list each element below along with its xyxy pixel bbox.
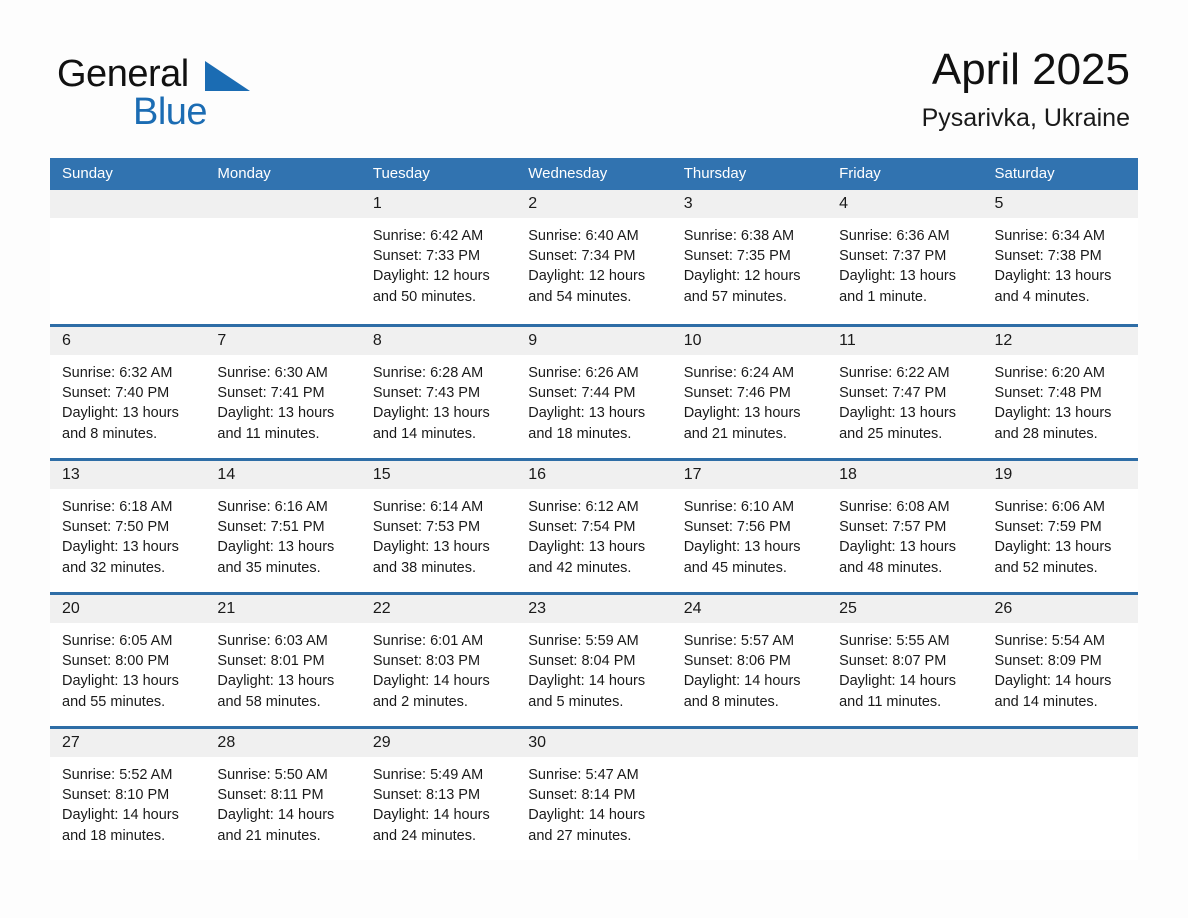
day-number-band: 7 xyxy=(205,327,360,355)
day-number-band: 1 xyxy=(361,190,516,218)
daylight-text-line1: Daylight: 13 hours xyxy=(995,266,1126,286)
sunrise-text: Sunrise: 6:36 AM xyxy=(839,226,970,246)
day-cell-27[interactable]: 27Sunrise: 5:52 AMSunset: 8:10 PMDayligh… xyxy=(50,729,205,860)
day-details: Sunrise: 6:18 AMSunset: 7:50 PMDaylight:… xyxy=(50,489,205,578)
sunrise-text: Sunrise: 6:38 AM xyxy=(684,226,815,246)
sunrise-text: Sunrise: 6:34 AM xyxy=(995,226,1126,246)
location-subtitle: Pysarivka, Ukraine xyxy=(922,102,1130,134)
daylight-text-line1: Daylight: 13 hours xyxy=(995,537,1126,557)
day-number-band: 19 xyxy=(983,461,1138,489)
day-number-band xyxy=(983,729,1138,757)
daylight-text-line2: and 57 minutes. xyxy=(684,287,815,307)
daylight-text-line2: and 18 minutes. xyxy=(528,424,659,444)
day-details: Sunrise: 6:10 AMSunset: 7:56 PMDaylight:… xyxy=(672,489,827,578)
day-cell-22[interactable]: 22Sunrise: 6:01 AMSunset: 8:03 PMDayligh… xyxy=(361,595,516,726)
daylight-text-line2: and 55 minutes. xyxy=(62,692,193,712)
day-cell-3[interactable]: 3Sunrise: 6:38 AMSunset: 7:35 PMDaylight… xyxy=(672,190,827,324)
daylight-text-line1: Daylight: 13 hours xyxy=(62,671,193,691)
day-number: 2 xyxy=(516,190,671,218)
sunset-text: Sunset: 7:59 PM xyxy=(995,517,1126,537)
day-number-band: 22 xyxy=(361,595,516,623)
day-number: 27 xyxy=(50,729,205,757)
day-details: Sunrise: 6:12 AMSunset: 7:54 PMDaylight:… xyxy=(516,489,671,578)
sunrise-text: Sunrise: 6:40 AM xyxy=(528,226,659,246)
sunrise-text: Sunrise: 5:55 AM xyxy=(839,631,970,651)
day-number: 22 xyxy=(361,595,516,623)
day-number: 14 xyxy=(205,461,360,489)
sunrise-text: Sunrise: 5:49 AM xyxy=(373,765,504,785)
sunset-text: Sunset: 7:40 PM xyxy=(62,383,193,403)
sunset-text: Sunset: 7:56 PM xyxy=(684,517,815,537)
day-number: 20 xyxy=(50,595,205,623)
calendar-table: SundayMondayTuesdayWednesdayThursdayFrid… xyxy=(50,158,1138,860)
day-details: Sunrise: 6:08 AMSunset: 7:57 PMDaylight:… xyxy=(827,489,982,578)
day-number: 19 xyxy=(983,461,1138,489)
day-number: 3 xyxy=(672,190,827,218)
day-number: 4 xyxy=(827,190,982,218)
sunset-text: Sunset: 7:33 PM xyxy=(373,246,504,266)
day-cell-2[interactable]: 2Sunrise: 6:40 AMSunset: 7:34 PMDaylight… xyxy=(516,190,671,324)
sunrise-text: Sunrise: 6:05 AM xyxy=(62,631,193,651)
daylight-text-line1: Daylight: 13 hours xyxy=(528,537,659,557)
day-number-band: 15 xyxy=(361,461,516,489)
day-number-band xyxy=(205,190,360,218)
daylight-text-line2: and 27 minutes. xyxy=(528,826,659,846)
day-number-band: 4 xyxy=(827,190,982,218)
day-details: Sunrise: 6:16 AMSunset: 7:51 PMDaylight:… xyxy=(205,489,360,578)
day-number: 10 xyxy=(672,327,827,355)
daylight-text-line1: Daylight: 12 hours xyxy=(528,266,659,286)
day-details: Sunrise: 6:32 AMSunset: 7:40 PMDaylight:… xyxy=(50,355,205,444)
sunrise-text: Sunrise: 6:20 AM xyxy=(995,363,1126,383)
daylight-text-line2: and 18 minutes. xyxy=(62,826,193,846)
sunrise-text: Sunrise: 5:54 AM xyxy=(995,631,1126,651)
day-cell-15[interactable]: 15Sunrise: 6:14 AMSunset: 7:53 PMDayligh… xyxy=(361,461,516,592)
daylight-text-line2: and 11 minutes. xyxy=(839,692,970,712)
day-number-band xyxy=(672,729,827,757)
day-number: 9 xyxy=(516,327,671,355)
daylight-text-line1: Daylight: 12 hours xyxy=(684,266,815,286)
daylight-text-line1: Daylight: 14 hours xyxy=(217,805,348,825)
week-row: 13Sunrise: 6:18 AMSunset: 7:50 PMDayligh… xyxy=(50,458,1138,592)
day-cell-5[interactable]: 5Sunrise: 6:34 AMSunset: 7:38 PMDaylight… xyxy=(983,190,1138,324)
daylight-text-line2: and 54 minutes. xyxy=(528,287,659,307)
day-number-band: 17 xyxy=(672,461,827,489)
day-details: Sunrise: 6:06 AMSunset: 7:59 PMDaylight:… xyxy=(983,489,1138,578)
day-cell-30[interactable]: 30Sunrise: 5:47 AMSunset: 8:14 PMDayligh… xyxy=(516,729,671,860)
daylight-text-line2: and 24 minutes. xyxy=(373,826,504,846)
day-number-band: 6 xyxy=(50,327,205,355)
daylight-text-line2: and 8 minutes. xyxy=(62,424,193,444)
weekday-header-wednesday: Wednesday xyxy=(516,158,671,190)
daylight-text-line1: Daylight: 13 hours xyxy=(684,403,815,423)
sunset-text: Sunset: 7:38 PM xyxy=(995,246,1126,266)
sunset-text: Sunset: 8:10 PM xyxy=(62,785,193,805)
day-cell-26[interactable]: 26Sunrise: 5:54 AMSunset: 8:09 PMDayligh… xyxy=(983,595,1138,726)
day-cell-28[interactable]: 28Sunrise: 5:50 AMSunset: 8:11 PMDayligh… xyxy=(205,729,360,860)
daylight-text-line2: and 14 minutes. xyxy=(373,424,504,444)
day-number-band: 16 xyxy=(516,461,671,489)
day-cell-16[interactable]: 16Sunrise: 6:12 AMSunset: 7:54 PMDayligh… xyxy=(516,461,671,592)
general-blue-logo[interactable]: General Blue xyxy=(57,52,327,132)
day-details: Sunrise: 6:20 AMSunset: 7:48 PMDaylight:… xyxy=(983,355,1138,444)
daylight-text-line1: Daylight: 13 hours xyxy=(528,403,659,423)
daylight-text-line2: and 45 minutes. xyxy=(684,558,815,578)
day-cell-10[interactable]: 10Sunrise: 6:24 AMSunset: 7:46 PMDayligh… xyxy=(672,327,827,458)
sunrise-text: Sunrise: 6:28 AM xyxy=(373,363,504,383)
daylight-text-line2: and 1 minute. xyxy=(839,287,970,307)
day-details: Sunrise: 6:38 AMSunset: 7:35 PMDaylight:… xyxy=(672,218,827,307)
day-details: Sunrise: 6:42 AMSunset: 7:33 PMDaylight:… xyxy=(361,218,516,307)
daylight-text-line1: Daylight: 14 hours xyxy=(995,671,1126,691)
day-cell-24[interactable]: 24Sunrise: 5:57 AMSunset: 8:06 PMDayligh… xyxy=(672,595,827,726)
sunrise-text: Sunrise: 6:22 AM xyxy=(839,363,970,383)
sunset-text: Sunset: 8:11 PM xyxy=(217,785,348,805)
sunrise-text: Sunrise: 5:57 AM xyxy=(684,631,815,651)
page-title: April 2025 xyxy=(922,44,1130,96)
day-details: Sunrise: 6:30 AMSunset: 7:41 PMDaylight:… xyxy=(205,355,360,444)
day-details: Sunrise: 6:24 AMSunset: 7:46 PMDaylight:… xyxy=(672,355,827,444)
daylight-text-line1: Daylight: 13 hours xyxy=(373,403,504,423)
sunset-text: Sunset: 8:03 PM xyxy=(373,651,504,671)
sunrise-text: Sunrise: 6:26 AM xyxy=(528,363,659,383)
sunset-text: Sunset: 8:13 PM xyxy=(373,785,504,805)
daylight-text-line2: and 58 minutes. xyxy=(217,692,348,712)
day-details: Sunrise: 6:34 AMSunset: 7:38 PMDaylight:… xyxy=(983,218,1138,307)
day-cell-12[interactable]: 12Sunrise: 6:20 AMSunset: 7:48 PMDayligh… xyxy=(983,327,1138,458)
daylight-text-line1: Daylight: 13 hours xyxy=(62,403,193,423)
weekday-header-sunday: Sunday xyxy=(50,158,205,190)
daylight-text-line1: Daylight: 13 hours xyxy=(217,537,348,557)
day-cell-14[interactable]: 14Sunrise: 6:16 AMSunset: 7:51 PMDayligh… xyxy=(205,461,360,592)
day-number-band: 27 xyxy=(50,729,205,757)
daylight-text-line1: Daylight: 14 hours xyxy=(373,671,504,691)
day-number-band: 13 xyxy=(50,461,205,489)
day-number-band: 18 xyxy=(827,461,982,489)
triangle-icon xyxy=(205,61,250,91)
day-cell-4[interactable]: 4Sunrise: 6:36 AMSunset: 7:37 PMDaylight… xyxy=(827,190,982,324)
daylight-text-line2: and 2 minutes. xyxy=(373,692,504,712)
sunset-text: Sunset: 8:06 PM xyxy=(684,651,815,671)
day-cell-empty xyxy=(983,729,1138,860)
day-number: 28 xyxy=(205,729,360,757)
page-header: General Blue April 2025 Pysarivka, Ukrai… xyxy=(0,0,1188,150)
day-number: 7 xyxy=(205,327,360,355)
sunset-text: Sunset: 7:48 PM xyxy=(995,383,1126,403)
sunset-text: Sunset: 7:50 PM xyxy=(62,517,193,537)
daylight-text-line1: Daylight: 14 hours xyxy=(373,805,504,825)
sunrise-text: Sunrise: 5:52 AM xyxy=(62,765,193,785)
sunset-text: Sunset: 8:09 PM xyxy=(995,651,1126,671)
week-row: 27Sunrise: 5:52 AMSunset: 8:10 PMDayligh… xyxy=(50,726,1138,860)
sunset-text: Sunset: 7:47 PM xyxy=(839,383,970,403)
day-number-band: 29 xyxy=(361,729,516,757)
day-cell-20[interactable]: 20Sunrise: 6:05 AMSunset: 8:00 PMDayligh… xyxy=(50,595,205,726)
day-cell-empty xyxy=(205,190,360,324)
daylight-text-line1: Daylight: 13 hours xyxy=(373,537,504,557)
day-number-band: 26 xyxy=(983,595,1138,623)
day-number: 26 xyxy=(983,595,1138,623)
daylight-text-line2: and 5 minutes. xyxy=(528,692,659,712)
day-number: 8 xyxy=(361,327,516,355)
daylight-text-line1: Daylight: 13 hours xyxy=(839,403,970,423)
week-row: 20Sunrise: 6:05 AMSunset: 8:00 PMDayligh… xyxy=(50,592,1138,726)
sunset-text: Sunset: 7:44 PM xyxy=(528,383,659,403)
daylight-text-line1: Daylight: 13 hours xyxy=(62,537,193,557)
day-cell-1[interactable]: 1Sunrise: 6:42 AMSunset: 7:33 PMDaylight… xyxy=(361,190,516,324)
weekday-header-thursday: Thursday xyxy=(672,158,827,190)
day-details: Sunrise: 6:28 AMSunset: 7:43 PMDaylight:… xyxy=(361,355,516,444)
day-number: 1 xyxy=(361,190,516,218)
sunset-text: Sunset: 7:34 PM xyxy=(528,246,659,266)
day-details: Sunrise: 6:05 AMSunset: 8:00 PMDaylight:… xyxy=(50,623,205,712)
daylight-text-line1: Daylight: 13 hours xyxy=(995,403,1126,423)
daylight-text-line1: Daylight: 13 hours xyxy=(839,537,970,557)
daylight-text-line1: Daylight: 14 hours xyxy=(839,671,970,691)
sunset-text: Sunset: 8:07 PM xyxy=(839,651,970,671)
daylight-text-line1: Daylight: 13 hours xyxy=(217,403,348,423)
day-number: 21 xyxy=(205,595,360,623)
sunrise-text: Sunrise: 6:16 AM xyxy=(217,497,348,517)
day-cell-11[interactable]: 11Sunrise: 6:22 AMSunset: 7:47 PMDayligh… xyxy=(827,327,982,458)
day-cell-empty xyxy=(672,729,827,860)
day-number: 13 xyxy=(50,461,205,489)
day-number: 17 xyxy=(672,461,827,489)
day-number: 5 xyxy=(983,190,1138,218)
daylight-text-line2: and 48 minutes. xyxy=(839,558,970,578)
sunrise-text: Sunrise: 6:42 AM xyxy=(373,226,504,246)
day-cell-13[interactable]: 13Sunrise: 6:18 AMSunset: 7:50 PMDayligh… xyxy=(50,461,205,592)
day-number: 29 xyxy=(361,729,516,757)
day-details: Sunrise: 5:52 AMSunset: 8:10 PMDaylight:… xyxy=(50,757,205,846)
daylight-text-line2: and 25 minutes. xyxy=(839,424,970,444)
daylight-text-line2: and 42 minutes. xyxy=(528,558,659,578)
sunset-text: Sunset: 7:35 PM xyxy=(684,246,815,266)
daylight-text-line1: Daylight: 13 hours xyxy=(684,537,815,557)
day-number-band: 20 xyxy=(50,595,205,623)
day-cell-18[interactable]: 18Sunrise: 6:08 AMSunset: 7:57 PMDayligh… xyxy=(827,461,982,592)
daylight-text-line2: and 38 minutes. xyxy=(373,558,504,578)
day-details: Sunrise: 5:55 AMSunset: 8:07 PMDaylight:… xyxy=(827,623,982,712)
sunrise-text: Sunrise: 6:03 AM xyxy=(217,631,348,651)
daylight-text-line1: Daylight: 14 hours xyxy=(528,805,659,825)
title-block: April 2025 Pysarivka, Ukraine xyxy=(922,44,1130,134)
sunrise-text: Sunrise: 6:12 AM xyxy=(528,497,659,517)
sunset-text: Sunset: 7:46 PM xyxy=(684,383,815,403)
day-number-band xyxy=(827,729,982,757)
day-cell-6[interactable]: 6Sunrise: 6:32 AMSunset: 7:40 PMDaylight… xyxy=(50,327,205,458)
day-number: 16 xyxy=(516,461,671,489)
sunrise-text: Sunrise: 6:01 AM xyxy=(373,631,504,651)
daylight-text-line2: and 35 minutes. xyxy=(217,558,348,578)
day-number: 25 xyxy=(827,595,982,623)
day-number-band: 10 xyxy=(672,327,827,355)
sunset-text: Sunset: 7:51 PM xyxy=(217,517,348,537)
day-details: Sunrise: 5:59 AMSunset: 8:04 PMDaylight:… xyxy=(516,623,671,712)
weekday-header-monday: Monday xyxy=(205,158,360,190)
day-details: Sunrise: 6:26 AMSunset: 7:44 PMDaylight:… xyxy=(516,355,671,444)
day-number-band: 2 xyxy=(516,190,671,218)
day-cell-19[interactable]: 19Sunrise: 6:06 AMSunset: 7:59 PMDayligh… xyxy=(983,461,1138,592)
day-number: 23 xyxy=(516,595,671,623)
day-cell-25[interactable]: 25Sunrise: 5:55 AMSunset: 8:07 PMDayligh… xyxy=(827,595,982,726)
sunset-text: Sunset: 7:57 PM xyxy=(839,517,970,537)
sunset-text: Sunset: 7:37 PM xyxy=(839,246,970,266)
sunrise-text: Sunrise: 6:30 AM xyxy=(217,363,348,383)
day-number-band: 21 xyxy=(205,595,360,623)
day-number-band: 25 xyxy=(827,595,982,623)
sunrise-text: Sunrise: 5:59 AM xyxy=(528,631,659,651)
sunset-text: Sunset: 7:41 PM xyxy=(217,383,348,403)
day-number-band: 8 xyxy=(361,327,516,355)
day-details: Sunrise: 5:57 AMSunset: 8:06 PMDaylight:… xyxy=(672,623,827,712)
day-details: Sunrise: 6:14 AMSunset: 7:53 PMDaylight:… xyxy=(361,489,516,578)
daylight-text-line1: Daylight: 13 hours xyxy=(839,266,970,286)
day-number: 6 xyxy=(50,327,205,355)
daylight-text-line2: and 4 minutes. xyxy=(995,287,1126,307)
daylight-text-line1: Daylight: 13 hours xyxy=(217,671,348,691)
day-details: Sunrise: 5:47 AMSunset: 8:14 PMDaylight:… xyxy=(516,757,671,846)
day-details: Sunrise: 6:22 AMSunset: 7:47 PMDaylight:… xyxy=(827,355,982,444)
day-number: 18 xyxy=(827,461,982,489)
daylight-text-line1: Daylight: 12 hours xyxy=(373,266,504,286)
day-cell-23[interactable]: 23Sunrise: 5:59 AMSunset: 8:04 PMDayligh… xyxy=(516,595,671,726)
sunset-text: Sunset: 8:01 PM xyxy=(217,651,348,671)
day-number: 15 xyxy=(361,461,516,489)
sunrise-text: Sunrise: 6:14 AM xyxy=(373,497,504,517)
day-cell-7[interactable]: 7Sunrise: 6:30 AMSunset: 7:41 PMDaylight… xyxy=(205,327,360,458)
daylight-text-line2: and 21 minutes. xyxy=(217,826,348,846)
daylight-text-line1: Daylight: 14 hours xyxy=(528,671,659,691)
day-number: 24 xyxy=(672,595,827,623)
day-cell-empty xyxy=(827,729,982,860)
sunset-text: Sunset: 8:00 PM xyxy=(62,651,193,671)
sunset-text: Sunset: 8:14 PM xyxy=(528,785,659,805)
day-number-band: 12 xyxy=(983,327,1138,355)
day-number-band: 23 xyxy=(516,595,671,623)
sunrise-text: Sunrise: 5:47 AM xyxy=(528,765,659,785)
daylight-text-line2: and 52 minutes. xyxy=(995,558,1126,578)
daylight-text-line2: and 8 minutes. xyxy=(684,692,815,712)
calendar-body: 1Sunrise: 6:42 AMSunset: 7:33 PMDaylight… xyxy=(50,190,1138,860)
daylight-text-line2: and 32 minutes. xyxy=(62,558,193,578)
weekday-header-saturday: Saturday xyxy=(983,158,1138,190)
sunset-text: Sunset: 7:43 PM xyxy=(373,383,504,403)
daylight-text-line2: and 28 minutes. xyxy=(995,424,1126,444)
day-details: Sunrise: 5:50 AMSunset: 8:11 PMDaylight:… xyxy=(205,757,360,846)
sunrise-text: Sunrise: 6:06 AM xyxy=(995,497,1126,517)
day-details: Sunrise: 6:03 AMSunset: 8:01 PMDaylight:… xyxy=(205,623,360,712)
weekday-header-tuesday: Tuesday xyxy=(361,158,516,190)
day-number: 11 xyxy=(827,327,982,355)
sunset-text: Sunset: 7:54 PM xyxy=(528,517,659,537)
weekday-header-friday: Friday xyxy=(827,158,982,190)
day-number-band: 5 xyxy=(983,190,1138,218)
day-details: Sunrise: 6:36 AMSunset: 7:37 PMDaylight:… xyxy=(827,218,982,307)
day-number: 12 xyxy=(983,327,1138,355)
day-cell-9[interactable]: 9Sunrise: 6:26 AMSunset: 7:44 PMDaylight… xyxy=(516,327,671,458)
sunrise-text: Sunrise: 6:18 AM xyxy=(62,497,193,517)
sunrise-text: Sunrise: 6:24 AM xyxy=(684,363,815,383)
daylight-text-line1: Daylight: 14 hours xyxy=(62,805,193,825)
weekday-header-row: SundayMondayTuesdayWednesdayThursdayFrid… xyxy=(50,158,1138,190)
sunrise-text: Sunrise: 5:50 AM xyxy=(217,765,348,785)
sunset-text: Sunset: 7:53 PM xyxy=(373,517,504,537)
logo-text-blue: Blue xyxy=(133,90,207,134)
day-cell-8[interactable]: 8Sunrise: 6:28 AMSunset: 7:43 PMDaylight… xyxy=(361,327,516,458)
daylight-text-line2: and 14 minutes. xyxy=(995,692,1126,712)
sunrise-text: Sunrise: 6:10 AM xyxy=(684,497,815,517)
day-number: 30 xyxy=(516,729,671,757)
sunset-text: Sunset: 8:04 PM xyxy=(528,651,659,671)
day-cell-empty xyxy=(50,190,205,324)
day-details: Sunrise: 6:40 AMSunset: 7:34 PMDaylight:… xyxy=(516,218,671,307)
day-cell-21[interactable]: 21Sunrise: 6:03 AMSunset: 8:01 PMDayligh… xyxy=(205,595,360,726)
day-cell-29[interactable]: 29Sunrise: 5:49 AMSunset: 8:13 PMDayligh… xyxy=(361,729,516,860)
day-number-band: 14 xyxy=(205,461,360,489)
day-number-band: 3 xyxy=(672,190,827,218)
daylight-text-line1: Daylight: 14 hours xyxy=(684,671,815,691)
daylight-text-line2: and 50 minutes. xyxy=(373,287,504,307)
day-details: Sunrise: 6:01 AMSunset: 8:03 PMDaylight:… xyxy=(361,623,516,712)
sunrise-text: Sunrise: 6:08 AM xyxy=(839,497,970,517)
sunrise-text: Sunrise: 6:32 AM xyxy=(62,363,193,383)
day-cell-17[interactable]: 17Sunrise: 6:10 AMSunset: 7:56 PMDayligh… xyxy=(672,461,827,592)
daylight-text-line2: and 11 minutes. xyxy=(217,424,348,444)
day-number-band: 28 xyxy=(205,729,360,757)
day-number-band: 11 xyxy=(827,327,982,355)
day-number-band: 9 xyxy=(516,327,671,355)
day-number-band: 24 xyxy=(672,595,827,623)
day-number-band xyxy=(50,190,205,218)
week-row: 1Sunrise: 6:42 AMSunset: 7:33 PMDaylight… xyxy=(50,190,1138,324)
day-details: Sunrise: 5:54 AMSunset: 8:09 PMDaylight:… xyxy=(983,623,1138,712)
daylight-text-line2: and 21 minutes. xyxy=(684,424,815,444)
day-number-band: 30 xyxy=(516,729,671,757)
week-row: 6Sunrise: 6:32 AMSunset: 7:40 PMDaylight… xyxy=(50,324,1138,458)
day-details: Sunrise: 5:49 AMSunset: 8:13 PMDaylight:… xyxy=(361,757,516,846)
